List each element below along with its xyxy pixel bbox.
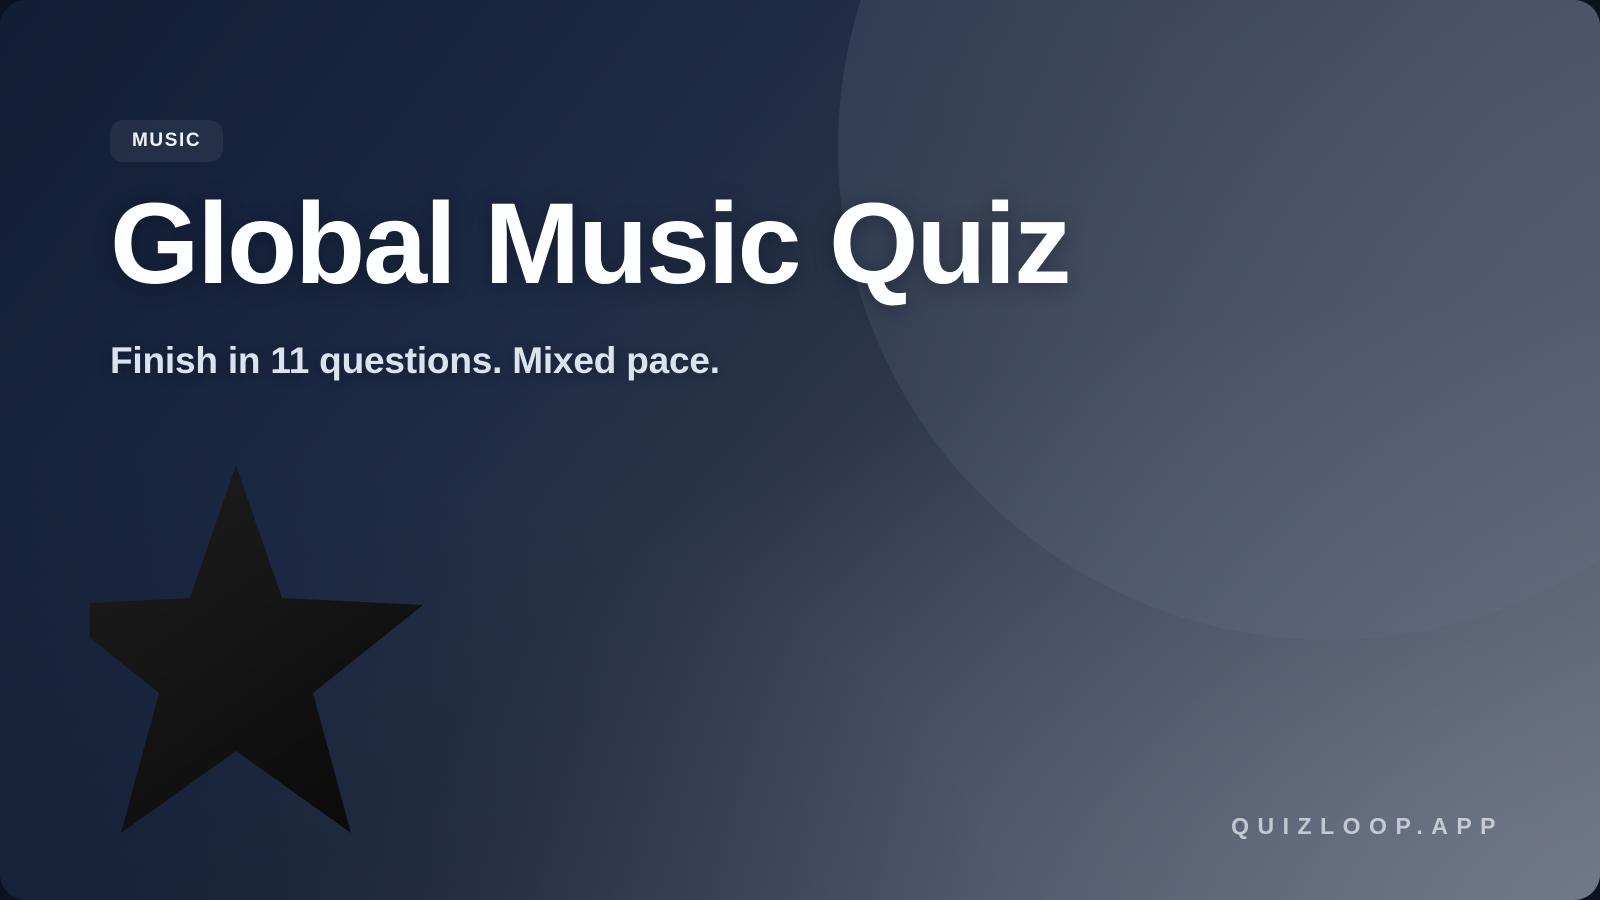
card-content: MUSIC Global Music Quiz Finish in 11 que…	[110, 120, 1230, 384]
subtitle-text: Finish in 11 questions. Mixed pace.	[110, 339, 1230, 383]
brand-watermark: QUIZLOOP.APP	[1231, 815, 1504, 838]
page-title: Global Music Quiz	[110, 186, 1230, 303]
category-badge: MUSIC	[110, 120, 223, 162]
quiz-promo-card: MUSIC Global Music Quiz Finish in 11 que…	[0, 0, 1600, 900]
